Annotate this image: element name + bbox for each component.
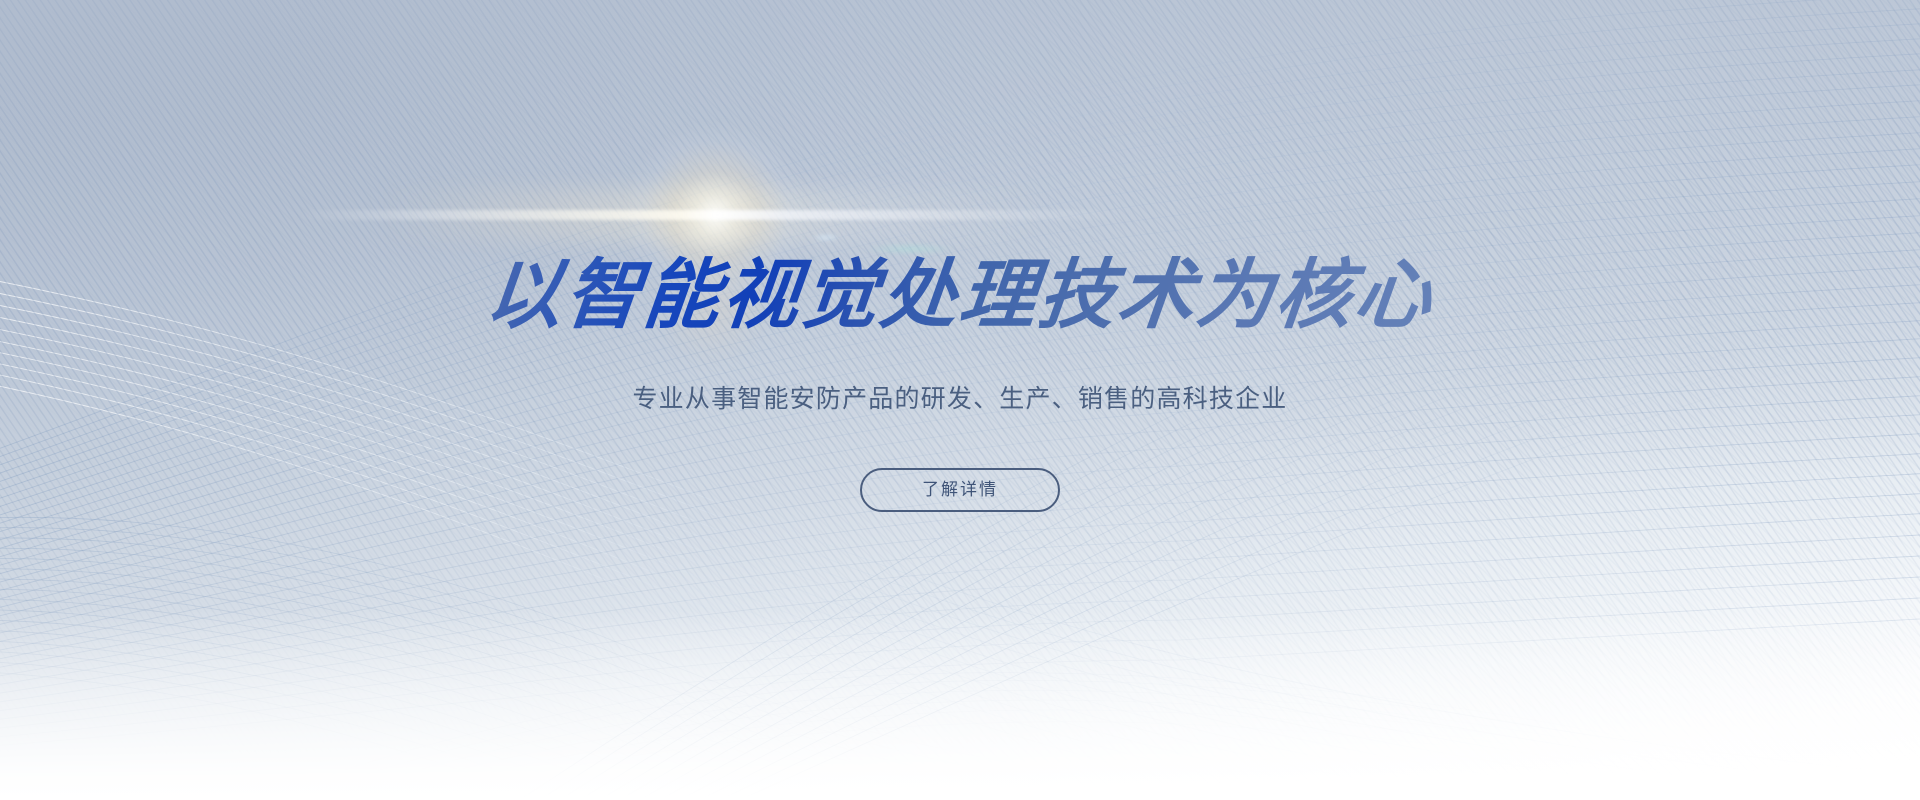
hero-subtitle: 专业从事智能安防产品的研发、生产、销售的高科技企业 <box>632 382 1287 416</box>
learn-more-button[interactable]: 了解详情 <box>860 468 1060 512</box>
hero-content: 以智能视觉处理技术为核心 专业从事智能安防产品的研发、生产、销售的高科技企业 了… <box>0 0 1920 800</box>
hero-headline: 以智能视觉处理技术为核心 <box>481 252 1438 338</box>
hero-banner: 以智能视觉处理技术为核心 专业从事智能安防产品的研发、生产、销售的高科技企业 了… <box>0 0 1920 800</box>
